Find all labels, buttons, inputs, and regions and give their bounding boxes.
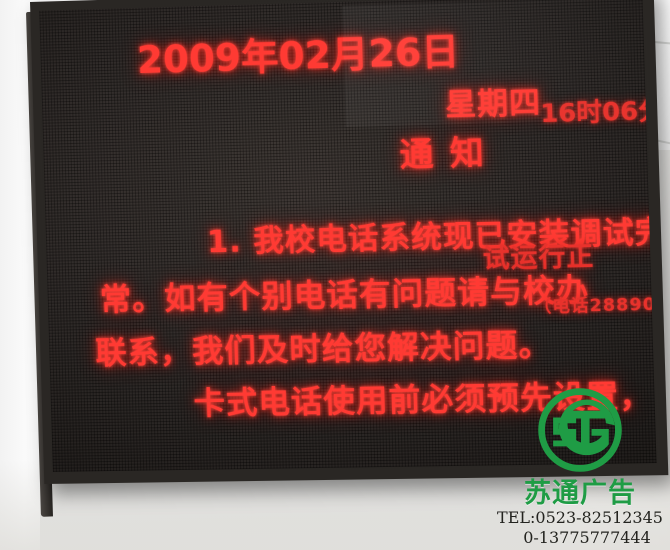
led-weekday-text: 星期四 <box>445 77 542 124</box>
led-message-line-4: 卡式电话使用前必须预先设置， <box>193 370 653 423</box>
led-message-line-3: 联系，我们及时给您解决问题。 <box>95 319 552 373</box>
led-message-line-2: 常。如有个别电话有问题请与校办 <box>99 264 589 319</box>
led-message-line-1: 1. 我校电话系统现已安装调试完成， <box>206 205 668 261</box>
led-date-text: 2009年02月26日 <box>136 21 460 84</box>
led-message-line-2-phone: （电话2889000） <box>533 289 668 318</box>
led-text-layer: 2009年02月26日 星期四 16时06分54秒 通知 1. 我校电话系统现已… <box>39 0 656 472</box>
screenshot-root: 2009年02月26日 星期四 16时06分54秒 通知 1. 我校电话系统现已… <box>0 0 670 550</box>
led-time-text: 16时06分54秒 <box>540 89 669 130</box>
led-board-assembly: 2009年02月26日 星期四 16时06分54秒 通知 1. 我校电话系统现已… <box>30 2 650 532</box>
led-display-board[interactable]: 2009年02月26日 星期四 16时06分54秒 通知 1. 我校电话系统现已… <box>30 0 668 484</box>
led-notice-title: 通知 <box>399 125 501 176</box>
